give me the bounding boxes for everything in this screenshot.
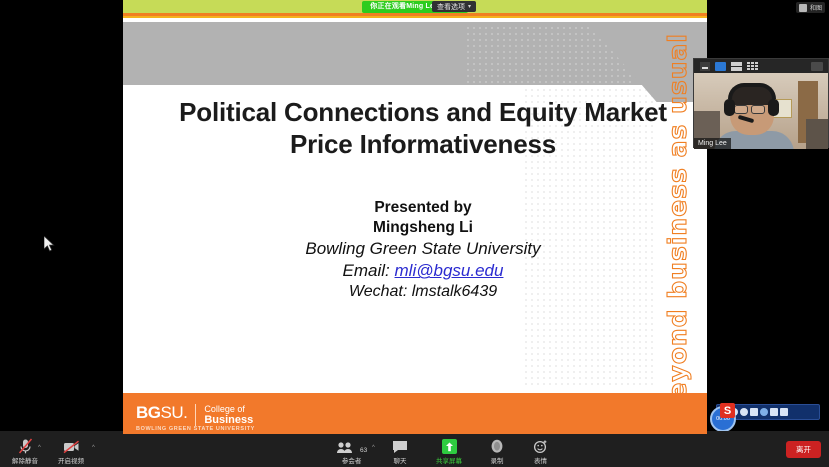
- toolbar-participants-button[interactable]: 63 参会者: [336, 438, 367, 465]
- toolbar-share-label: 共享屏幕: [436, 455, 462, 465]
- mute-options-caret[interactable]: ^: [38, 445, 41, 451]
- slide-title: Political Connections and Equity Market …: [163, 97, 683, 160]
- presenter-name: Mingsheng Li: [163, 218, 683, 238]
- zoom-meeting-window: beyond business as usual Political Conne…: [0, 0, 829, 467]
- shared-screen-slide[interactable]: beyond business as usual Political Conne…: [123, 13, 707, 436]
- bgsu-wordmark: BGSU.: [136, 403, 187, 422]
- toolbar-chat-label: 聊天: [394, 455, 407, 465]
- video-thumbnail-panel[interactable]: Ming Lee: [693, 58, 829, 148]
- mail-icon[interactable]: [750, 408, 758, 416]
- headset-cup-right: [768, 99, 779, 116]
- background-chair-right: [806, 119, 828, 149]
- meeting-toolbar: 解除静音 ^ 开启视频 ^ 63 参会者: [0, 431, 829, 467]
- mouse-cursor: [44, 236, 56, 253]
- layout-icon[interactable]: [799, 4, 807, 12]
- share-screen-icon[interactable]: [442, 438, 457, 454]
- shirt-icon[interactable]: [770, 408, 778, 416]
- toolbar-mute-label: 解除静音: [12, 455, 38, 465]
- gallery-view-icon[interactable]: [747, 62, 758, 71]
- toolbar-record-label: 录制: [491, 455, 504, 465]
- reactions-icon[interactable]: [533, 438, 548, 454]
- participants-count: 63: [360, 447, 367, 454]
- bgsu-bg: BG: [136, 403, 161, 422]
- chevron-down-icon: ▾: [468, 3, 471, 10]
- record-icon[interactable]: [490, 438, 504, 454]
- slide-body: Presented by Mingsheng Li Bowling Green …: [163, 198, 683, 303]
- glasses-left-lens: [734, 105, 748, 114]
- speaker-view-icon[interactable]: [715, 62, 726, 71]
- strip-view-icon[interactable]: [731, 62, 742, 71]
- window-control-label: 和图: [810, 3, 822, 12]
- sogou-logo-icon[interactable]: S: [720, 403, 735, 418]
- view-options-label: 查看选项: [437, 2, 465, 12]
- toolbar-reactions-label: 表情: [534, 455, 547, 465]
- mic-muted-icon[interactable]: [18, 438, 33, 454]
- leave-meeting-button[interactable]: 离开: [786, 441, 821, 458]
- bgsu-logo: BGSU. College of Business: [123, 403, 253, 426]
- college-line-1: College of: [204, 404, 253, 415]
- mic-icon[interactable]: [740, 408, 748, 416]
- email-label: Email:: [343, 261, 390, 280]
- view-options-button[interactable]: 查看选项 ▾: [432, 1, 476, 12]
- toolbar-mute-button[interactable]: 解除静音: [12, 438, 38, 465]
- minimize-icon[interactable]: [699, 62, 710, 71]
- popout-icon[interactable]: [811, 62, 823, 71]
- college-line-2: Business: [204, 415, 253, 426]
- video-options-caret[interactable]: ^: [92, 445, 95, 451]
- participants-options-caret[interactable]: ^: [372, 445, 375, 451]
- toolbar-record-button[interactable]: 录制: [490, 438, 504, 465]
- presenter-wechat: Wechat: lmstalk6439: [163, 282, 683, 303]
- toolbar-share-screen-button[interactable]: 共享屏幕: [436, 438, 462, 465]
- video-muted-icon[interactable]: [63, 438, 80, 454]
- participant-name-label: Ming Lee: [694, 138, 731, 149]
- email-link[interactable]: mli@bgsu.edu: [395, 261, 504, 280]
- presenter-email-line: Email: mli@bgsu.edu: [163, 260, 683, 282]
- toolbar-reactions-button[interactable]: 表情: [533, 438, 548, 465]
- headset-band: [728, 83, 776, 99]
- college-wordmark: College of Business: [204, 403, 253, 425]
- logo-divider: [195, 404, 196, 426]
- headset-cup-left: [724, 99, 735, 116]
- participants-icon[interactable]: 63: [336, 438, 367, 454]
- video-feed: Ming Lee: [694, 73, 828, 149]
- video-thumbnail-toolbar[interactable]: [694, 59, 828, 73]
- glasses-right-lens: [751, 105, 765, 114]
- chat-icon[interactable]: [392, 438, 408, 454]
- presenter-affiliation: Bowling Green State University: [163, 238, 683, 260]
- window-controls[interactable]: 和图: [796, 2, 825, 13]
- toolbar-video-button[interactable]: 开启视频: [58, 438, 84, 465]
- presented-by-label: Presented by: [163, 198, 683, 218]
- screen-share-banner: 你正在观看Ming Lee的屏幕: [123, 0, 707, 13]
- apps-icon[interactable]: [780, 408, 788, 416]
- slide-footer: BGSU. College of Business BOWLING GREEN …: [123, 393, 707, 436]
- toolbar-video-label: 开启视频: [58, 455, 84, 465]
- toolbar-top-rule: [123, 431, 707, 434]
- bgsu-su: SU.: [161, 403, 188, 422]
- toolbar-participants-label: 参会者: [342, 455, 362, 465]
- person-icon[interactable]: [760, 408, 768, 416]
- toolbar-chat-button[interactable]: 聊天: [392, 438, 408, 465]
